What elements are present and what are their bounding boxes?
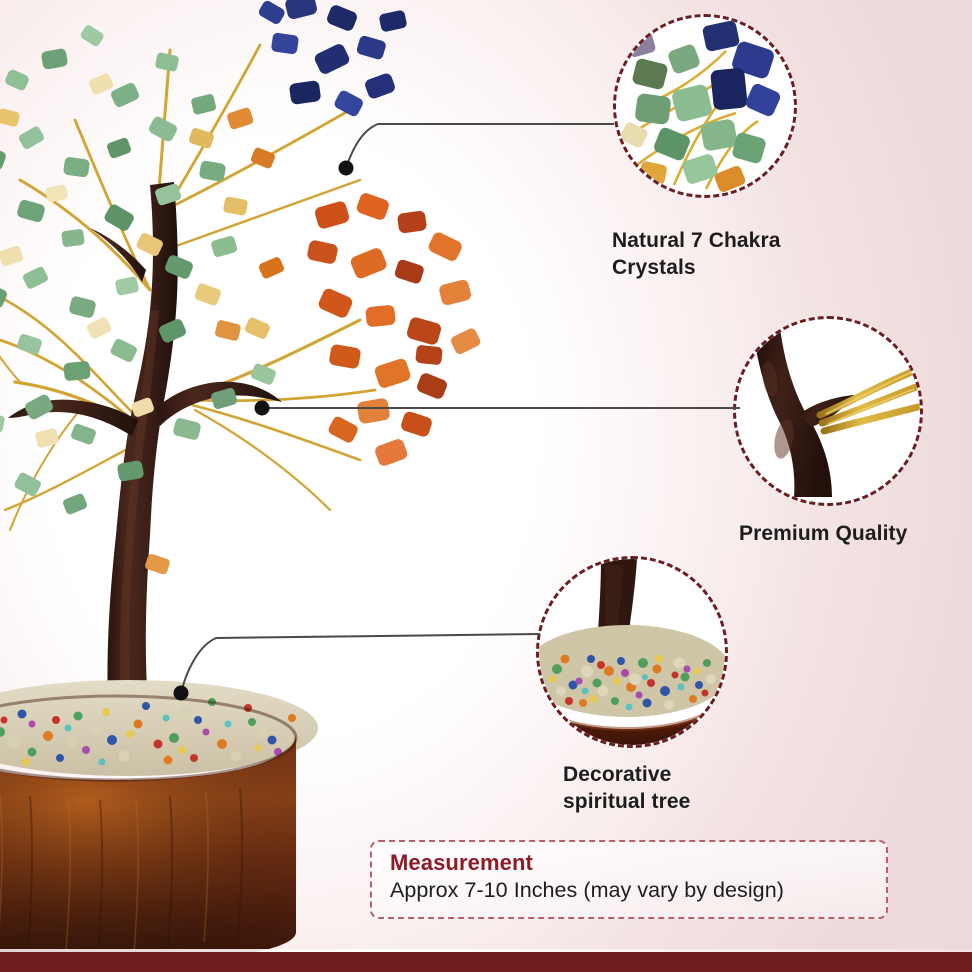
- callout-label-decorative-spiritual-tree: Decorative spiritual tree: [563, 761, 803, 816]
- callout-label-line1: Natural 7 Chakra: [612, 227, 912, 254]
- measurement-title: Measurement: [390, 851, 870, 876]
- product-image-crystal-tree: [0, 0, 580, 970]
- bottom-accent-bar: [0, 952, 972, 972]
- callout-label-premium-quality: Premium Quality: [739, 520, 972, 547]
- callout-circle-decorative-spiritual-tree: [536, 556, 728, 748]
- product-infographic: Natural 7 Chakra Crystals Premium Qualit…: [0, 0, 972, 972]
- callout-label-line2: Crystals: [612, 254, 912, 281]
- measurement-box: Measurement Approx 7-10 Inches (may vary…: [370, 840, 888, 919]
- measurement-value: Approx 7-10 Inches (may vary by design): [390, 878, 870, 904]
- crystals-closeup-image: [616, 17, 794, 195]
- callout-label-line1: Premium Quality: [739, 520, 972, 547]
- callout-circle-natural-7-chakra-crystals: [613, 14, 797, 198]
- callout-label-line2: spiritual tree: [563, 788, 803, 815]
- trunk-closeup-image: [736, 319, 920, 503]
- crystal-tree-illustration: [0, 0, 580, 970]
- callout-label-natural-7-chakra-crystals: Natural 7 Chakra Crystals: [612, 227, 912, 282]
- callout-circle-premium-quality: [733, 316, 923, 506]
- callout-label-line1: Decorative: [563, 761, 803, 788]
- base-closeup-image: [539, 559, 725, 745]
